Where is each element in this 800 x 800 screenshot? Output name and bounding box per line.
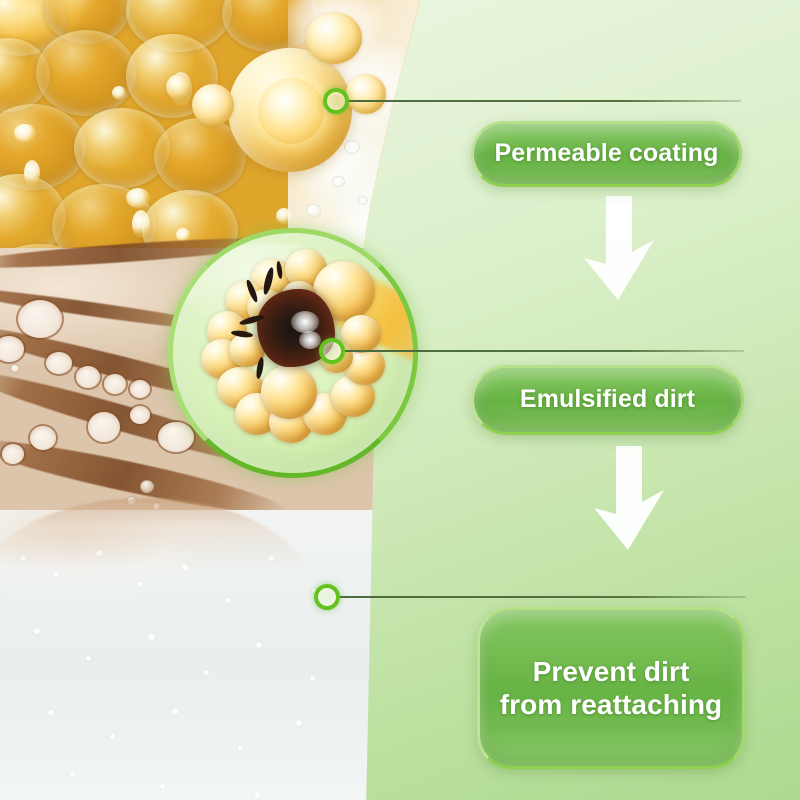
- step-marker-3[interactable]: [314, 584, 340, 610]
- flow-arrow-2: [586, 446, 672, 550]
- mini-droplet: [192, 84, 234, 126]
- step-card-permeable-coating[interactable]: Permeable coating: [471, 121, 742, 187]
- step-card-prevent-dirt-from-reattaching[interactable]: Prevent dirt from reattaching: [477, 607, 745, 769]
- surfactant-bubble: [261, 365, 317, 419]
- mini-droplet: [346, 74, 386, 114]
- micelle-magnifier: [168, 228, 418, 478]
- step-card-label: Prevent dirt from reattaching: [490, 655, 733, 721]
- step-marker-1[interactable]: [323, 88, 349, 114]
- step-marker-2[interactable]: [319, 338, 345, 364]
- flow-arrow-1: [576, 196, 662, 300]
- step-card-label: Permeable coating: [484, 139, 728, 169]
- mini-droplet: [166, 74, 192, 100]
- step-card-label: Emulsified dirt: [510, 385, 705, 415]
- step-card-label-line1: Prevent dirt: [533, 656, 690, 687]
- step-card-label-line2: from reattaching: [500, 689, 723, 720]
- mini-droplet: [306, 12, 362, 64]
- step-card-emulsified-dirt[interactable]: Emulsified dirt: [471, 365, 744, 435]
- connector-line-2: [345, 350, 744, 352]
- connector-line-3: [340, 596, 746, 598]
- connector-line-1: [349, 100, 741, 102]
- infographic-canvas: Permeable coating Emulsified dirt Preven…: [0, 0, 800, 800]
- hero-droplet-core: [258, 78, 324, 144]
